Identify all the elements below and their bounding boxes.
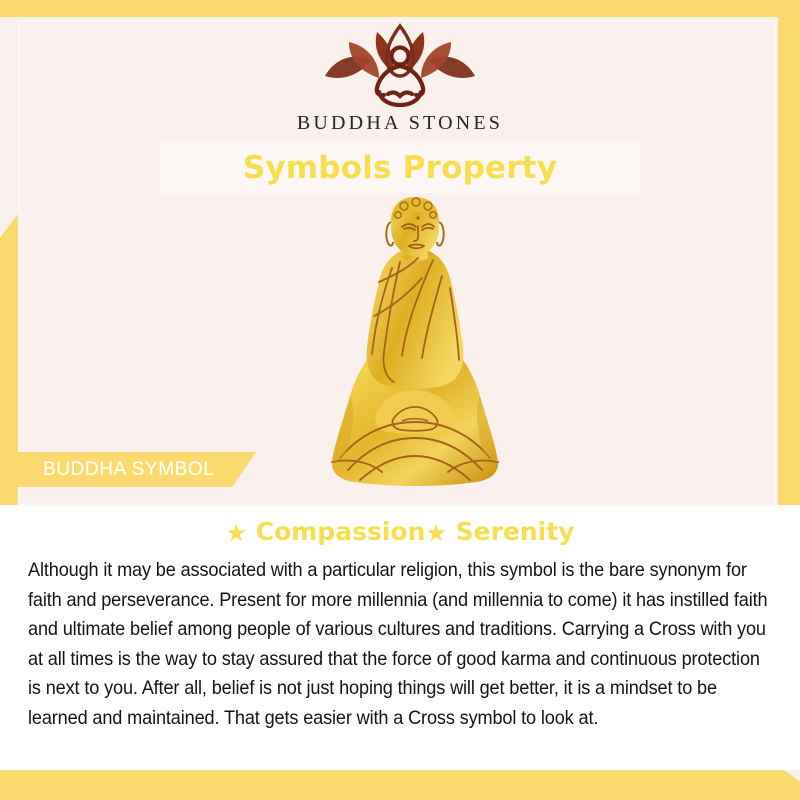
attribute-second: Serenity (456, 517, 575, 546)
attribute-first: Compassion (256, 517, 426, 546)
lotus-meditation-icon (305, 22, 495, 110)
title-band: Symbols Property (160, 143, 640, 193)
brand-name: BUDDHA STONES (0, 112, 800, 135)
star-icon-second: ★ (425, 519, 447, 547)
description-text: Although it may be associated with a par… (28, 556, 772, 733)
decorative-bottom-bar (0, 770, 800, 800)
decorative-top-bar (0, 0, 800, 17)
buddha-symbol-banner-label: BUDDHA SYMBOL (43, 459, 214, 481)
seated-buddha-statue-image (330, 196, 500, 492)
promotional-banner-page: BUDDHA STONES Symbols Property (0, 0, 800, 800)
brand-header: BUDDHA STONES (0, 22, 800, 135)
attributes-heading: ★ Compassion★ Serenity (0, 517, 800, 547)
star-icon-first: ★ (226, 519, 248, 547)
page-title: Symbols Property (243, 150, 557, 186)
buddha-symbol-banner: BUDDHA SYMBOL (18, 452, 256, 487)
description-panel: ★ Compassion★ Serenity Although it may b… (0, 505, 800, 770)
